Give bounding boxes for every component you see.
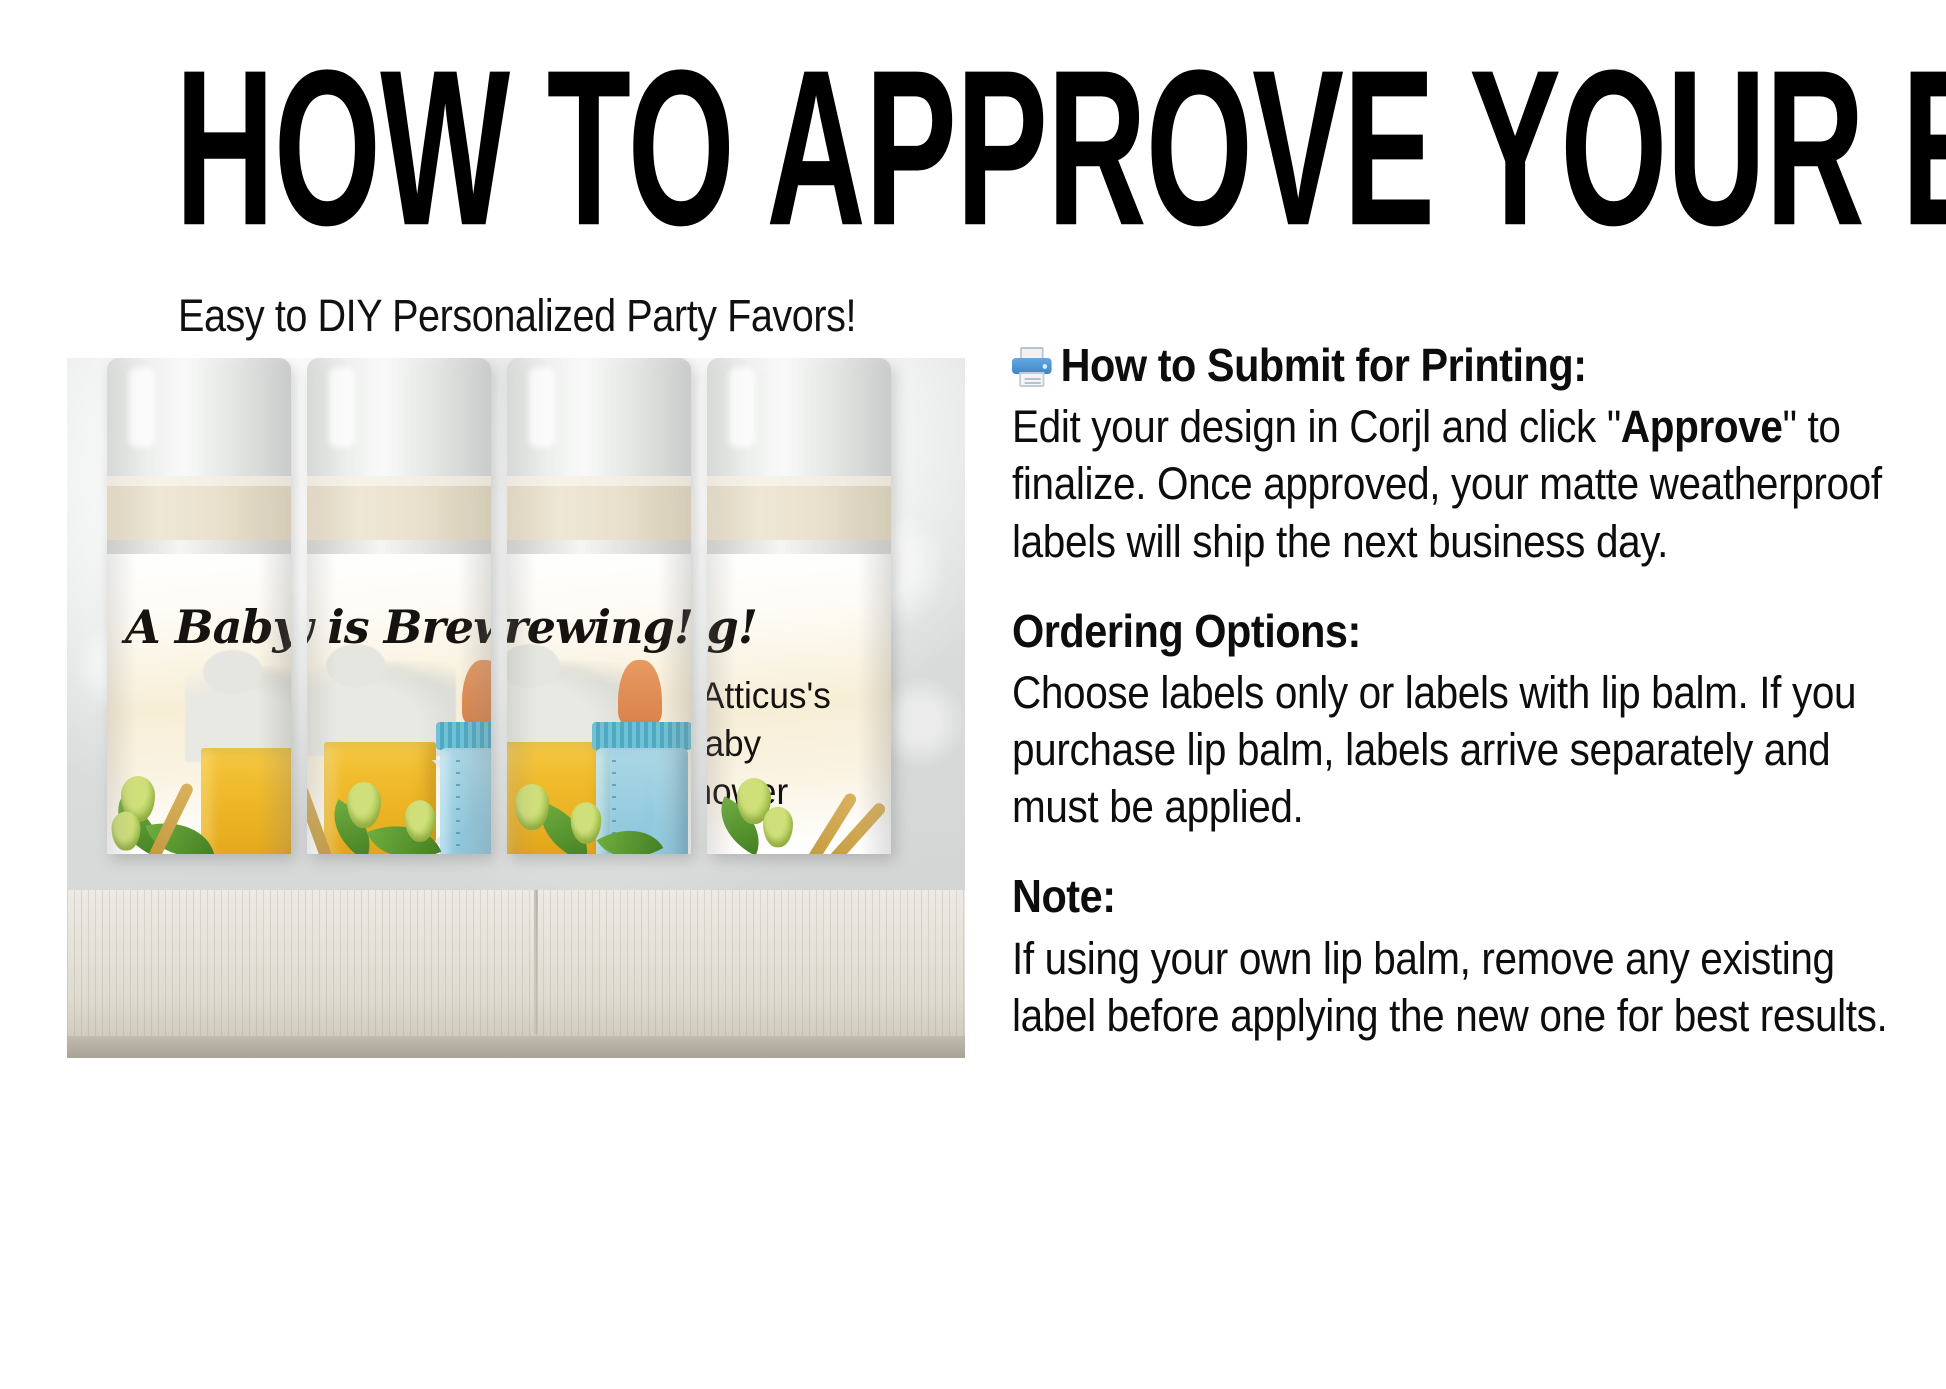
label-script-text: A Baby is Brewing!: [307, 600, 491, 654]
section-ordering-body: Choose labels only or labels with lip ba…: [1012, 664, 1892, 835]
hop-cone-icon: [405, 800, 436, 841]
body-text-bold: Approve: [1621, 401, 1783, 452]
hops-foliage: [307, 738, 491, 854]
section-note-heading-colon: :: [1102, 870, 1115, 922]
hop-cone-icon: [763, 807, 793, 847]
hops-foliage: [107, 738, 291, 854]
label-script-text: A Baby is Brewing!: [125, 600, 291, 654]
tube-label: A Baby is Brewing! Atticus's Baby Shower: [707, 554, 891, 854]
section-ordering-heading: Ordering Options:: [1012, 604, 1804, 658]
page-title: HOW TO APPROVE YOUR EDIT: [175, 46, 1771, 250]
tube-label: A Baby is Brewing!: [507, 554, 691, 854]
section-printing: How to Submit for Printing: Edit your de…: [1012, 338, 1892, 570]
label-name-line-1: Atticus's: [707, 672, 831, 719]
section-note-heading-text: Note: [1012, 870, 1102, 922]
tube-cap: [707, 358, 891, 486]
tubes-row: A Baby is Brewing!: [107, 358, 925, 948]
hop-cone-icon: [347, 782, 381, 828]
section-printing-heading-text: How to Submit for Printing: [1061, 339, 1574, 391]
leaf-icon: [597, 813, 664, 854]
printer-icon: [1012, 347, 1052, 387]
tube-cap: [507, 358, 691, 486]
section-printing-heading-colon: :: [1573, 339, 1586, 391]
photo-caption: Easy to DIY Personalized Party Favors!: [121, 290, 913, 342]
lip-balm-tubes-photo: A Baby is Brewing!: [67, 358, 965, 1058]
poster-page: HOW TO APPROVE YOUR EDIT Easy to DIY Per…: [0, 0, 1946, 1389]
wood-edge: [67, 1036, 965, 1058]
hop-cone-icon: [571, 802, 602, 843]
tube-cap: [307, 358, 491, 486]
section-note-body: If using your own lip balm, remove any e…: [1012, 930, 1892, 1044]
tube-label: A Baby is Brewing!: [307, 554, 491, 854]
section-ordering-heading-text: Ordering Options: [1012, 605, 1348, 657]
section-printing-heading: How to Submit for Printing:: [1012, 338, 1804, 392]
section-printing-body: Edit your design in Corjl and click "App…: [1012, 398, 1892, 569]
tube-cap: [107, 358, 291, 486]
lip-balm-tube: A Baby is Brewing!: [507, 358, 691, 938]
lip-balm-tube: A Baby is Brewing! Atticus's Baby Shower: [707, 358, 891, 938]
section-ordering: Ordering Options: Choose labels only or …: [1012, 604, 1892, 836]
bottle-nipple: [462, 660, 491, 726]
lip-balm-tube: A Baby is Brewing!: [307, 358, 491, 938]
section-note-heading: Note:: [1012, 869, 1804, 923]
body-text-part: Edit your design in Corjl and click ": [1012, 401, 1621, 452]
section-ordering-heading-colon: :: [1348, 605, 1361, 657]
bottle-nipple: [618, 660, 662, 726]
instructions-column: How to Submit for Printing: Edit your de…: [1012, 338, 1892, 1044]
wood-surface: [67, 890, 965, 1058]
lip-balm-tube: A Baby is Brewing!: [107, 358, 291, 938]
left-column: Easy to DIY Personalized Party Favors! A…: [67, 290, 967, 1058]
hops-foliage: [507, 738, 691, 854]
hops-foliage: [707, 738, 891, 854]
wheat-icon: [307, 784, 335, 854]
label-script-text: A Baby is Brewing!: [707, 600, 757, 654]
section-note: Note: If using your own lip balm, remove…: [1012, 869, 1892, 1044]
tube-label: A Baby is Brewing!: [107, 554, 291, 854]
